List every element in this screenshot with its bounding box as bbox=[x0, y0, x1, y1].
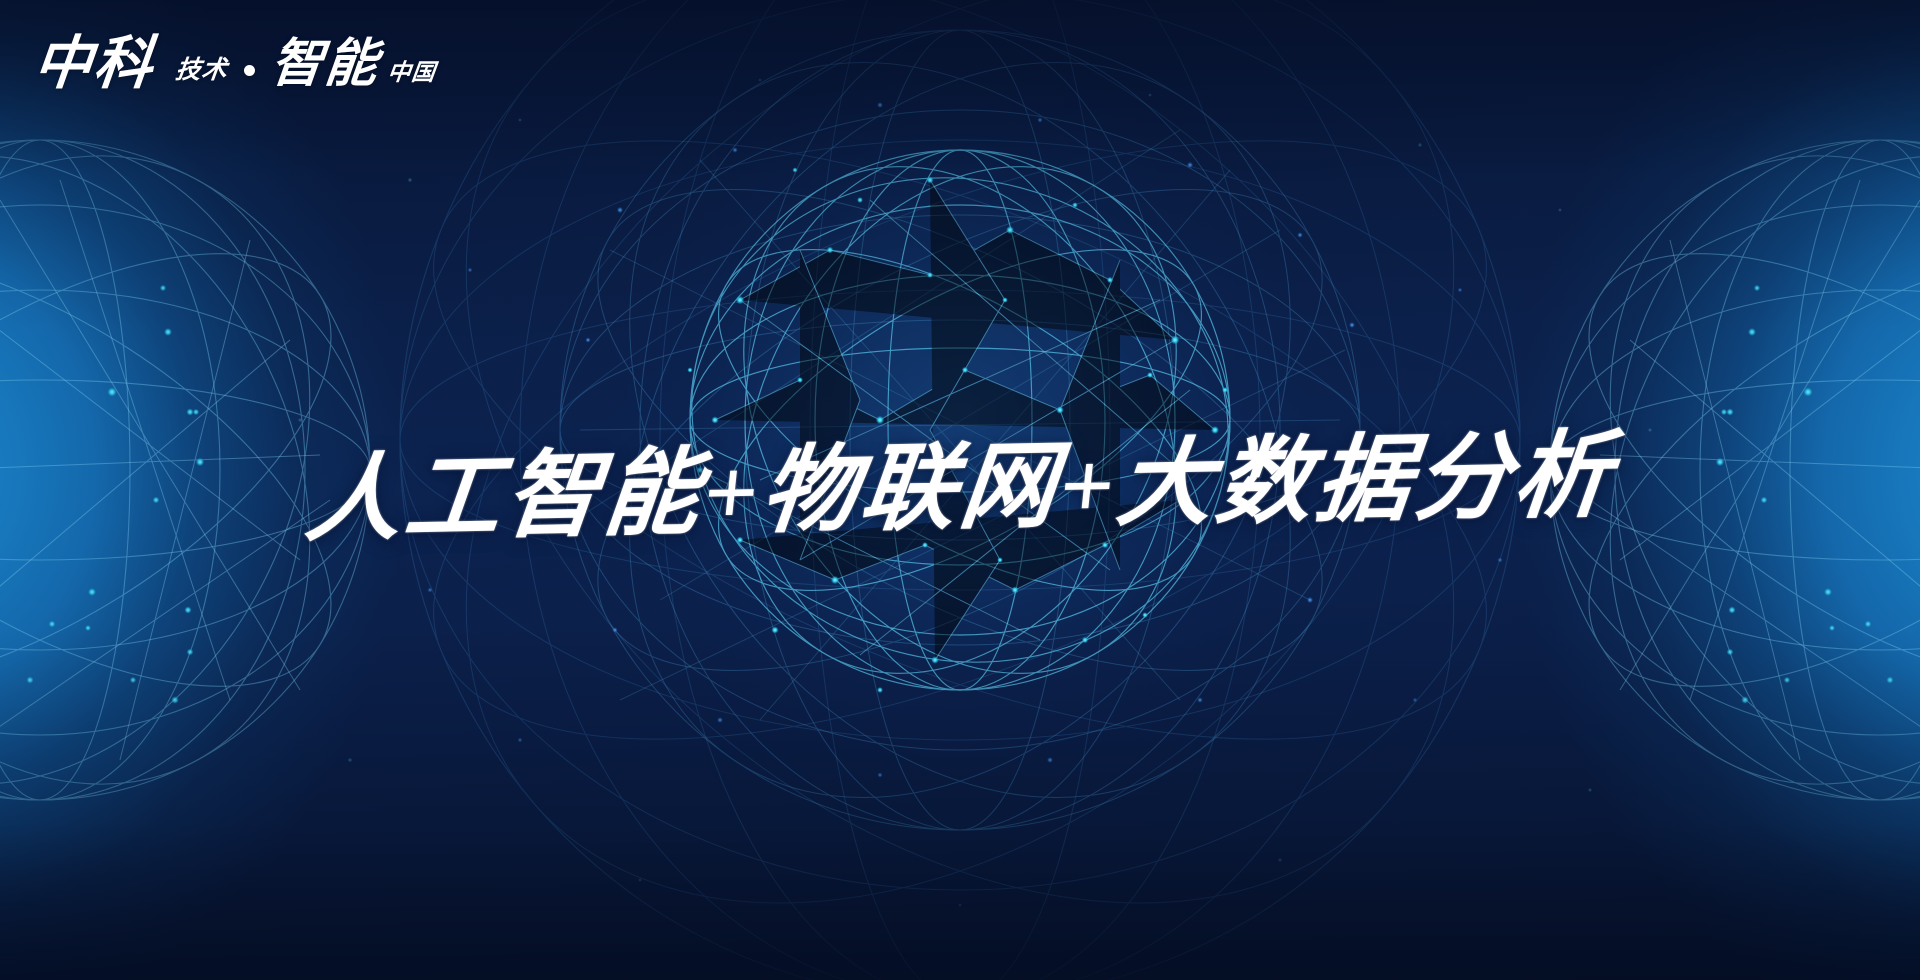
headline-block: 人工智能+物联网+大数据分析 bbox=[0, 440, 1920, 537]
brand-logo[interactable]: 中科 技术 智能 中国 bbox=[34, 36, 436, 93]
brand-tagline-right: 中国 bbox=[386, 53, 438, 87]
brand-name: 中科 bbox=[31, 36, 157, 93]
page-title: 人工智能+物联网+大数据分析 bbox=[301, 427, 1618, 549]
brand-separator-dot bbox=[244, 65, 255, 76]
brand-tagline-left: 技术 bbox=[174, 50, 230, 86]
brand-tagline-mid: 智能 bbox=[268, 40, 381, 91]
banner-canvas: 中科 技术 智能 中国 人工智能+物联网+大数据分析 bbox=[0, 0, 1920, 980]
